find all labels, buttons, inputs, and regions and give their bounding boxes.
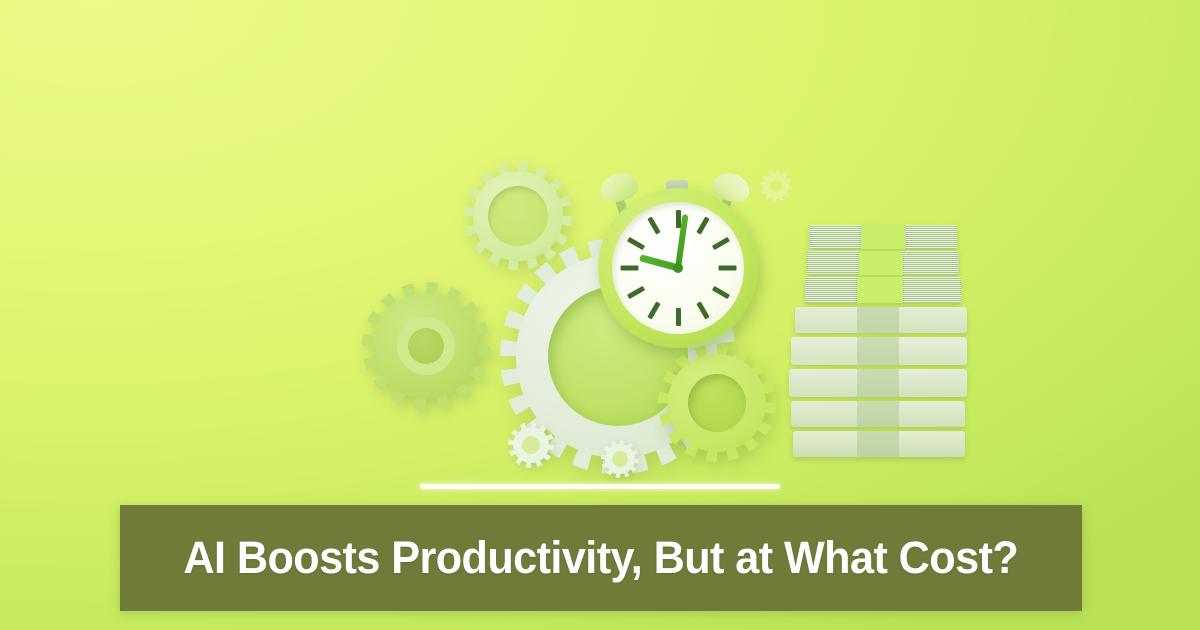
clock-tick bbox=[711, 286, 729, 299]
money-stack bbox=[795, 225, 975, 455]
illustration-scene bbox=[0, 0, 1200, 520]
gear-hole bbox=[488, 186, 548, 246]
clock-tick bbox=[718, 266, 736, 271]
title-banner: AI Boosts Productivity, But at What Cost… bbox=[120, 505, 1082, 611]
clock-tick bbox=[627, 237, 645, 250]
money-block-band bbox=[857, 401, 899, 427]
clock-tick bbox=[696, 217, 709, 235]
gear-hole bbox=[688, 374, 746, 432]
clock-tick bbox=[676, 308, 681, 326]
money-block bbox=[789, 369, 967, 397]
divider-rule bbox=[420, 484, 780, 489]
money-block bbox=[791, 337, 967, 365]
clock-tick bbox=[627, 286, 645, 299]
gear-hole bbox=[770, 180, 782, 192]
clock-tick bbox=[676, 210, 681, 228]
note-edges-right bbox=[905, 225, 957, 249]
clock-face bbox=[612, 202, 744, 334]
money-bundle bbox=[809, 225, 957, 249]
clock-tick bbox=[647, 217, 660, 235]
gear-left-muted bbox=[362, 282, 490, 410]
gear-hole bbox=[522, 436, 540, 454]
gear-small-left bbox=[508, 422, 554, 468]
note-edges-right bbox=[903, 251, 959, 275]
gear-ring-top bbox=[464, 162, 572, 270]
money-block-band bbox=[857, 431, 899, 457]
gear-hole bbox=[612, 451, 628, 467]
money-band bbox=[861, 225, 905, 249]
clock-tick bbox=[711, 237, 729, 250]
clock-tick bbox=[620, 266, 638, 271]
gear-small-center bbox=[601, 440, 639, 478]
clock-tick bbox=[696, 301, 709, 319]
money-band bbox=[857, 277, 903, 303]
money-bundle bbox=[805, 277, 961, 303]
money-block bbox=[793, 431, 965, 457]
money-block bbox=[791, 401, 965, 427]
note-edges-left bbox=[809, 225, 861, 249]
money-block-band bbox=[857, 307, 899, 333]
gear-bright-lower-right bbox=[658, 344, 776, 462]
note-edges-left bbox=[807, 251, 859, 275]
page-title: AI Boosts Productivity, But at What Cost… bbox=[184, 532, 1019, 584]
poster-canvas: AI Boosts Productivity, But at What Cost… bbox=[0, 0, 1200, 630]
money-block bbox=[795, 307, 967, 333]
note-edges-left bbox=[805, 277, 857, 303]
money-bundle bbox=[807, 251, 959, 275]
gear-hole bbox=[408, 328, 444, 364]
money-block-band bbox=[857, 337, 899, 365]
note-edges-right bbox=[903, 277, 961, 303]
money-block-band bbox=[857, 369, 899, 397]
money-band bbox=[859, 251, 903, 275]
clock-center-pin bbox=[673, 263, 683, 273]
alarm-clock bbox=[588, 168, 768, 348]
clock-tick bbox=[647, 301, 660, 319]
